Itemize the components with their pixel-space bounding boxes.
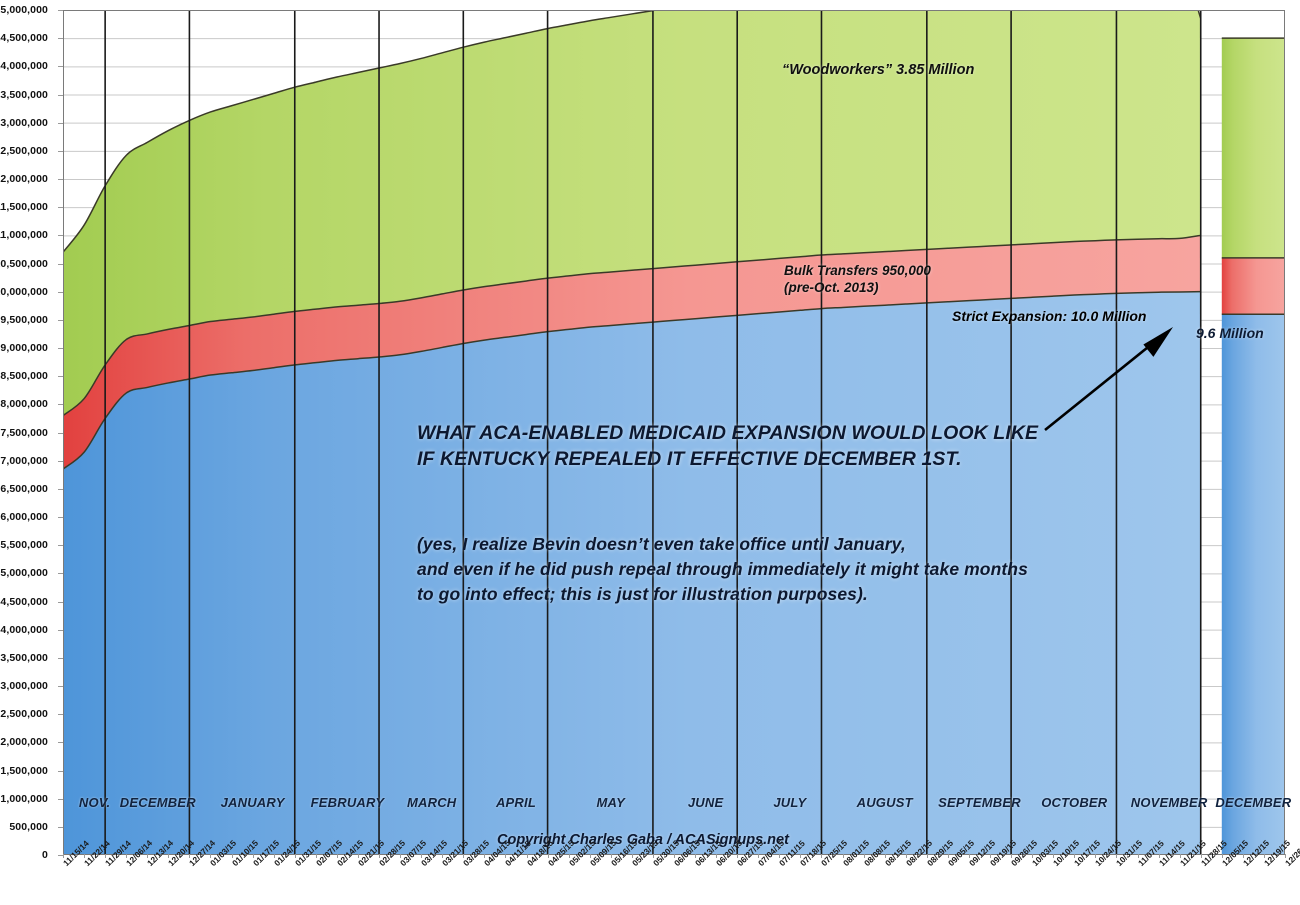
y-tick-label: 7,500,000 bbox=[0, 427, 48, 439]
y-tick-label: 8,500,000 bbox=[0, 370, 48, 382]
area-woodworkers bbox=[1222, 38, 1285, 258]
annotation-headline: WHAT ACA-ENABLED MEDICAID EXPANSION WOUL… bbox=[417, 420, 1038, 472]
y-tick-label: 6,000,000 bbox=[0, 511, 48, 523]
headline-line-2: IF KENTUCKY REPEALED IT EFFECTIVE DECEMB… bbox=[417, 448, 962, 470]
subtext-line-1: (yes, I realize Bevin doesn’t even take … bbox=[417, 534, 906, 554]
month-label-december: DECEMBER bbox=[1201, 791, 1300, 813]
y-tick-label: 2,000,000 bbox=[0, 736, 48, 748]
annotation-final-value: 9.6 Million bbox=[1196, 325, 1264, 341]
subtext-line-2: and even if he did push repeal through i… bbox=[417, 559, 1028, 579]
y-tick-label: 12,000,000 bbox=[0, 173, 48, 185]
y-tick-label: 3,000,000 bbox=[0, 680, 48, 692]
chart-root: 0500,0001,000,0001,500,0002,000,0002,500… bbox=[0, 0, 1300, 905]
y-tick-label: 14,500,000 bbox=[0, 32, 48, 44]
annotation-bulk-transfers: Bulk Transfers 950,000(pre-Oct. 2013) bbox=[784, 262, 931, 296]
annotation-subtext: (yes, I realize Bevin doesn’t even take … bbox=[417, 532, 1028, 607]
y-tick-label: 9,500,000 bbox=[0, 314, 48, 326]
x-axis-date-labels: 11/15/1411/22/1411/29/1412/06/1412/13/14… bbox=[0, 858, 1300, 905]
y-tick-label: 3,500,000 bbox=[0, 652, 48, 664]
y-tick-label: 14,000,000 bbox=[0, 60, 48, 72]
y-tick-label: 5,500,000 bbox=[0, 539, 48, 551]
y-tick-label: 1,500,000 bbox=[0, 765, 48, 777]
y-tick-label: 1,000,000 bbox=[0, 793, 48, 805]
y-tick-label: 10,000,000 bbox=[0, 286, 48, 298]
y-tick-label: 8,000,000 bbox=[0, 398, 48, 410]
y-tick-label: 12,500,000 bbox=[0, 145, 48, 157]
y-tick-label: 11,500,000 bbox=[0, 201, 48, 213]
y-tick-label: 7,000,000 bbox=[0, 455, 48, 467]
annotation-strict-expansion: Strict Expansion: 10.0 Million bbox=[952, 308, 1146, 324]
y-tick-label: 15,000,000 bbox=[0, 4, 48, 16]
y-tick-label: 6,500,000 bbox=[0, 483, 48, 495]
area-strict-expansion bbox=[1222, 314, 1285, 855]
annotation-bulk-line2: (pre-Oct. 2013) bbox=[784, 280, 879, 295]
y-tick-label: 9,000,000 bbox=[0, 342, 48, 354]
y-tick-label: 11,000,000 bbox=[0, 229, 48, 241]
y-axis: 0500,0001,000,0001,500,0002,000,0002,500… bbox=[0, 0, 58, 905]
y-tick-label: 10,500,000 bbox=[0, 258, 48, 270]
y-tick-label: 13,000,000 bbox=[0, 117, 48, 129]
annotation-woodworkers: “Woodworkers” 3.85 Million bbox=[782, 62, 974, 78]
y-tick-label: 4,500,000 bbox=[0, 596, 48, 608]
y-tick-label: 4,000,000 bbox=[0, 624, 48, 636]
subtext-line-3: to go into effect; this is just for illu… bbox=[417, 584, 868, 604]
y-tick-label: 13,500,000 bbox=[0, 89, 48, 101]
area-bulk-transfers bbox=[1222, 258, 1285, 314]
y-tick-label: 5,000,000 bbox=[0, 567, 48, 579]
y-tick-label: 500,000 bbox=[9, 821, 48, 833]
y-tick-label: 2,500,000 bbox=[0, 708, 48, 720]
headline-line-1: WHAT ACA-ENABLED MEDICAID EXPANSION WOUL… bbox=[417, 422, 1038, 444]
annotation-bulk-line1: Bulk Transfers 950,000 bbox=[784, 263, 931, 278]
